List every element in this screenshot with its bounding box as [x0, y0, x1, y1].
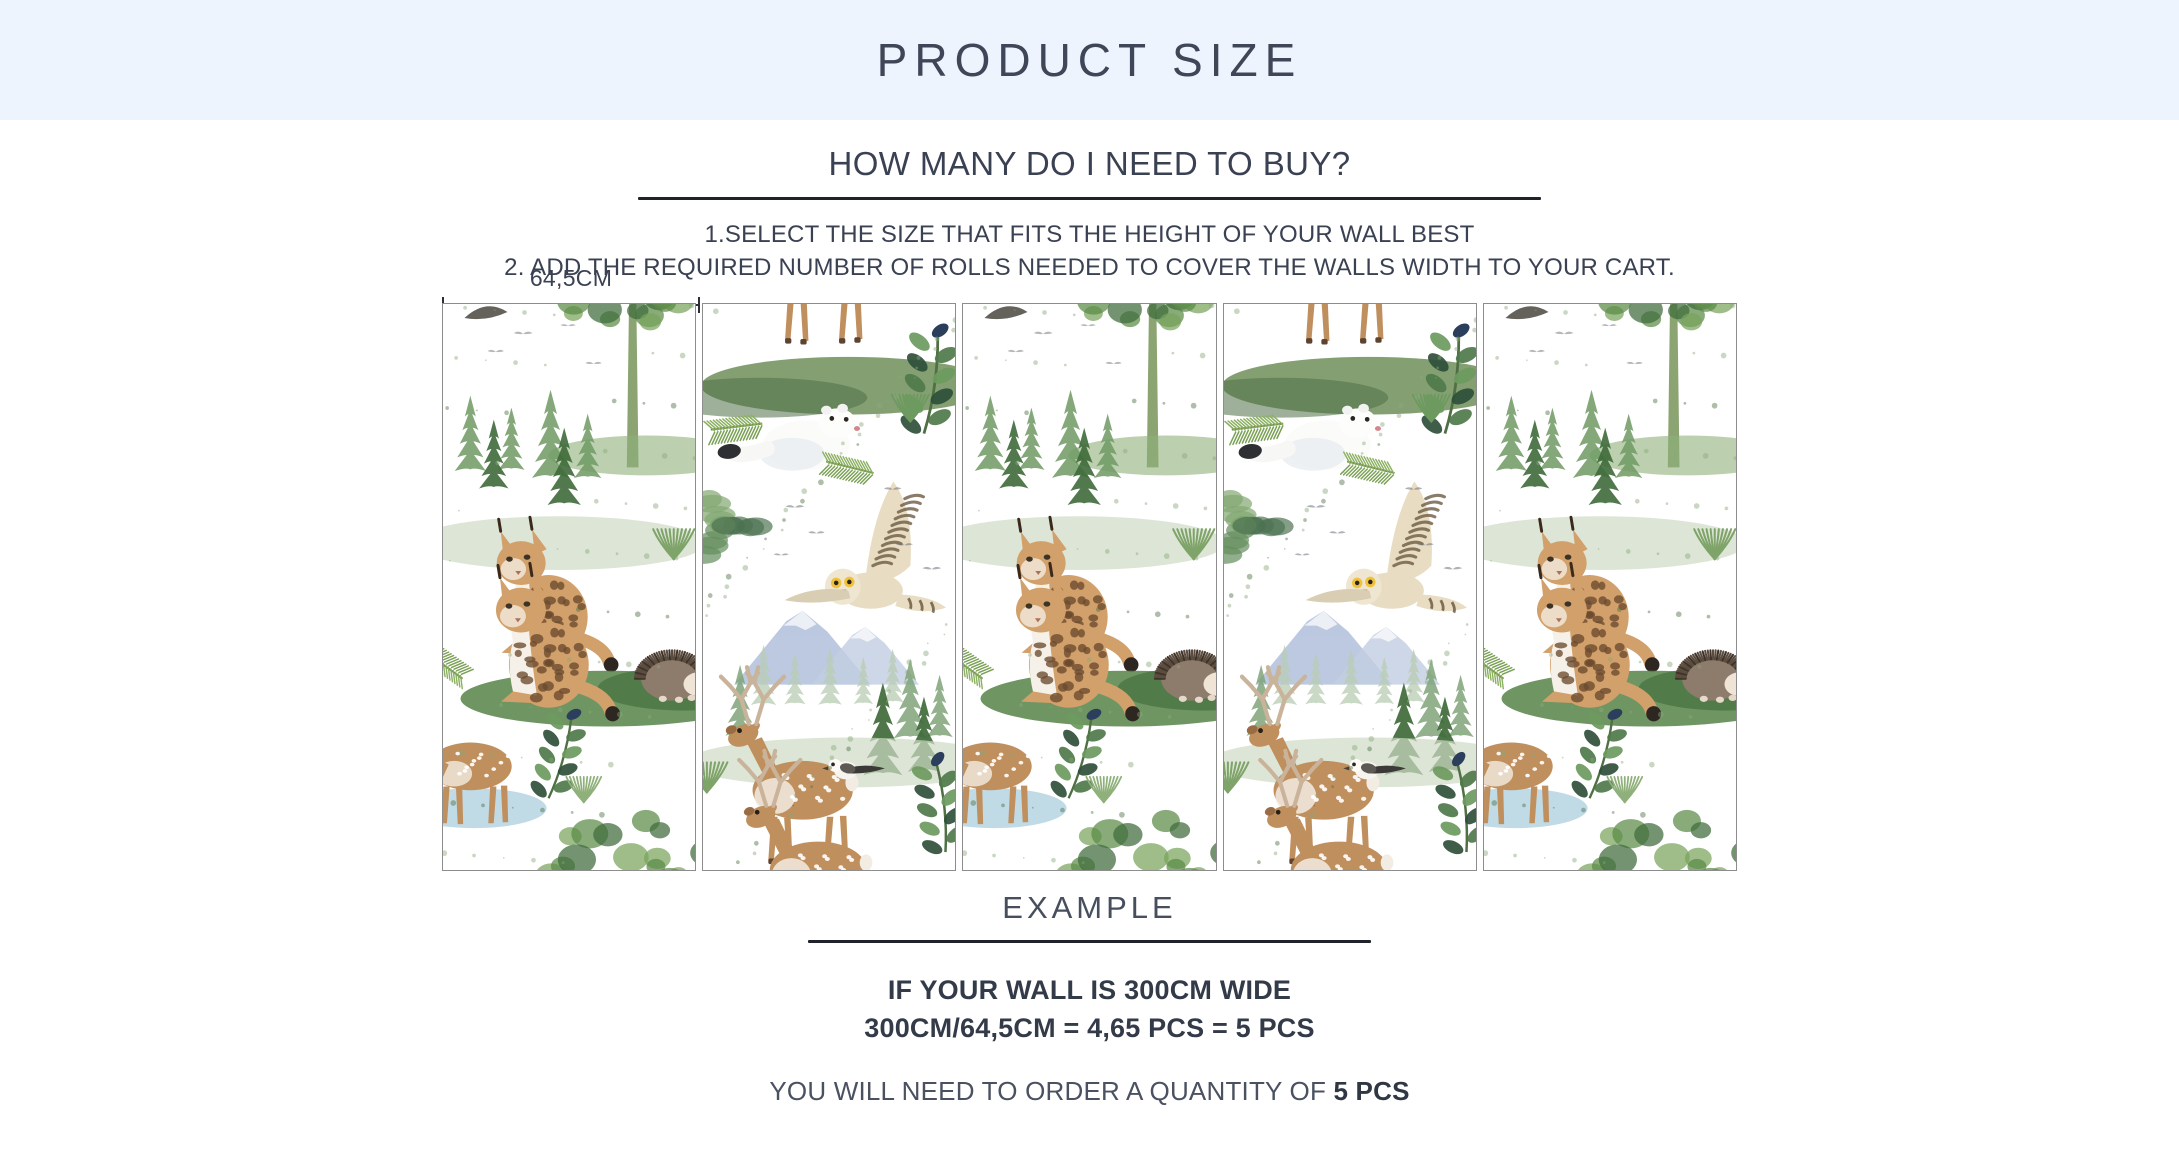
wallpaper-pattern-art	[1223, 304, 1477, 870]
wallpaper-panel-4[interactable]	[1223, 303, 1477, 871]
intro-step-2: 2. ADD THE REQUIRED NUMBER OF ROLLS NEED…	[0, 252, 2179, 285]
example-lines: IF YOUR WALL IS 300CM WIDE 300CM/64,5CM …	[0, 971, 2179, 1048]
wallpaper-pattern-art	[962, 304, 1216, 870]
header-band: PRODUCT SIZE	[0, 0, 2179, 120]
example-divider	[808, 940, 1371, 943]
page-title: PRODUCT SIZE	[877, 33, 1303, 87]
intro-heading: HOW MANY DO I NEED TO BUY?	[0, 145, 2179, 183]
wallpaper-panel-3[interactable]	[962, 303, 1216, 871]
example-line-2: 300CM/64,5CM = 4,65 PCS = 5 PCS	[0, 1009, 2179, 1047]
wallpaper-panel-row	[442, 303, 1737, 871]
dimension-label: 64,5CM	[442, 265, 700, 292]
wallpaper-panel-2[interactable]	[702, 303, 956, 871]
example-section: EXAMPLE IF YOUR WALL IS 300CM WIDE 300CM…	[0, 890, 2179, 1107]
wallpaper-pattern-art	[702, 304, 956, 870]
intro-section: HOW MANY DO I NEED TO BUY? 1.SELECT THE …	[0, 120, 2179, 284]
intro-steps: 1.SELECT THE SIZE THAT FITS THE HEIGHT O…	[0, 219, 2179, 284]
example-line-1: IF YOUR WALL IS 300CM WIDE	[0, 971, 2179, 1009]
example-note-prefix: YOU WILL NEED TO ORDER A QUANTITY OF	[769, 1076, 1333, 1106]
example-note-quantity: 5 PCS	[1333, 1076, 1409, 1106]
example-heading: EXAMPLE	[0, 890, 2179, 926]
wallpaper-pattern-art	[1483, 304, 1737, 870]
intro-step-1: 1.SELECT THE SIZE THAT FITS THE HEIGHT O…	[0, 219, 2179, 252]
example-note: YOU WILL NEED TO ORDER A QUANTITY OF 5 P…	[0, 1076, 2179, 1107]
wallpaper-pattern-art	[442, 304, 696, 870]
wallpaper-panel-1[interactable]	[442, 303, 696, 871]
intro-divider	[638, 197, 1541, 200]
wallpaper-panel-5[interactable]	[1483, 303, 1737, 871]
